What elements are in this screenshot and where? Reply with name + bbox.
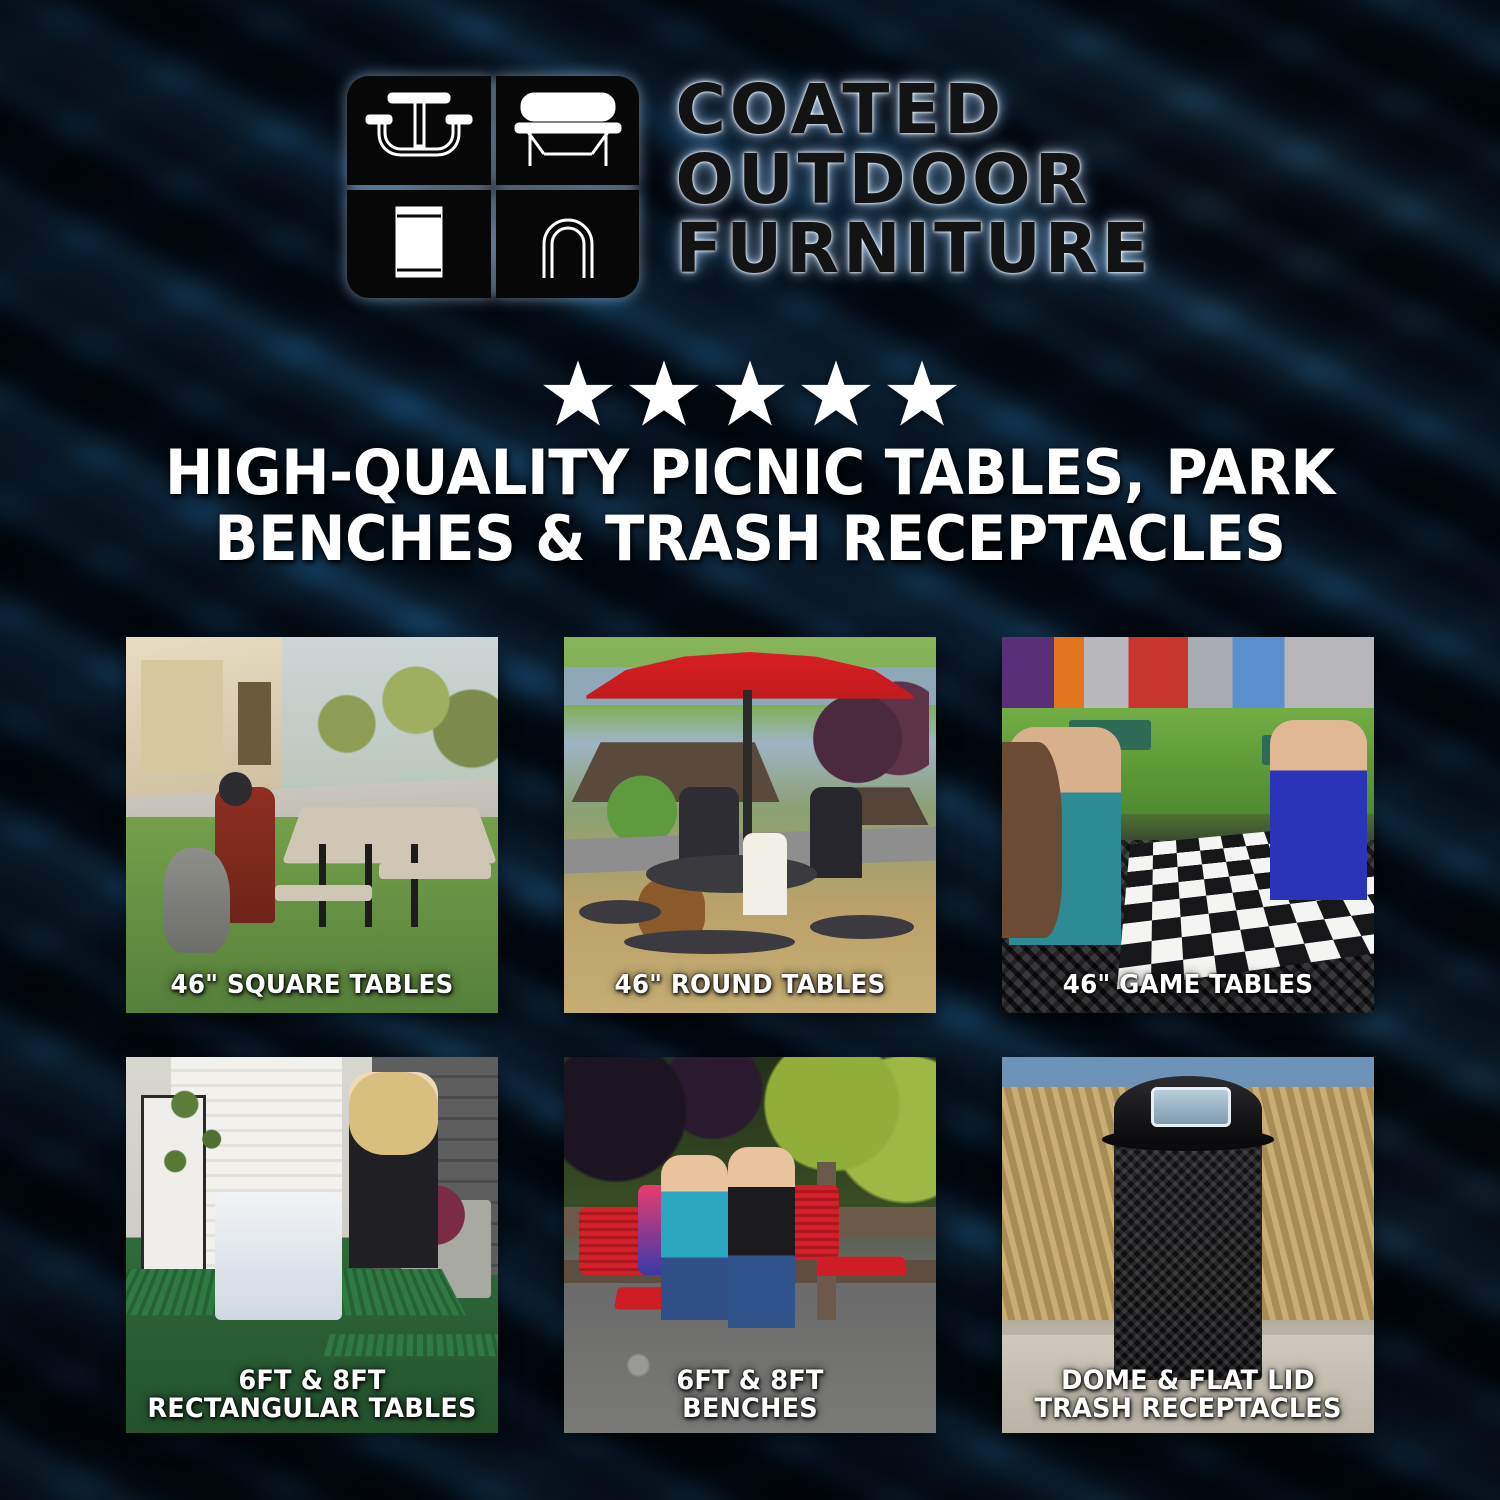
tile-caption-line-1: 46" SQUARE TABLES [143,972,481,999]
wordmark-line-1: COATED [675,78,1152,144]
tile-caption: 6FT & 8FT BENCHES [581,1367,919,1423]
tile-caption: 46" ROUND TABLES [581,972,919,999]
tile-caption-line-1: 6FT & 8FT [143,1367,481,1395]
product-tile-square-tables[interactable]: 46" SQUARE TABLES [126,637,498,1013]
headline-line-2: BENCHES & TRASH RECEPTACLES [108,506,1391,572]
tile-caption-line-1: 46" GAME TABLES [1019,972,1357,999]
star-rating [0,358,1500,428]
tile-caption-line-2: RECTANGULAR TABLES [143,1395,481,1423]
product-photo [564,637,936,1013]
star-icon [542,358,614,428]
product-category-grid: 46" SQUARE TABLES 46" ROUND TABLE [126,637,1374,1433]
star-icon [886,358,958,428]
tile-caption: 6FT & 8FT RECTANGULAR TABLES [143,1367,481,1423]
product-tile-game-tables[interactable]: 46" GAME TABLES [1002,637,1374,1013]
tile-caption: 46" GAME TABLES [1019,972,1357,999]
tile-caption-line-2: BENCHES [581,1395,919,1423]
headline-line-1: HIGH-QUALITY PICNIC TABLES, PARK [108,440,1391,506]
tile-caption: DOME & FLAT LID TRASH RECEPTACLES [1019,1367,1357,1423]
logo-mark [347,76,639,298]
promo-banner: COATED OUTDOOR FURNITURE HIGH-QUALITY PI… [0,0,1500,1500]
tile-caption-line-2: TRASH RECEPTACLES [1019,1395,1357,1423]
wordmark-line-3: FURNITURE [675,217,1152,283]
star-icon [714,358,786,428]
tile-caption-line-1: 6FT & 8FT [581,1367,919,1395]
tile-caption-line-1: DOME & FLAT LID [1019,1367,1357,1395]
wordmark-line-2: OUTDOOR [675,148,1152,214]
product-tile-benches[interactable]: 6FT & 8FT BENCHES [564,1057,936,1433]
star-icon [628,358,700,428]
product-photo [1002,637,1374,1013]
page-title: HIGH-QUALITY PICNIC TABLES, PARK BENCHES… [108,440,1391,571]
logo-wordmark: COATED OUTDOOR FURNITURE [675,76,1152,283]
product-tile-round-tables[interactable]: 46" ROUND TABLES [564,637,936,1013]
product-photo [126,637,498,1013]
star-icon [800,358,872,428]
bench-icon [496,76,640,185]
tile-caption-line-1: 46" ROUND TABLES [581,972,919,999]
product-tile-trash-receptacles[interactable]: DOME & FLAT LID TRASH RECEPTACLES [1002,1057,1374,1433]
picnic-table-icon [347,76,491,185]
trash-receptacle-icon [347,190,491,299]
brand-logo: COATED OUTDOOR FURNITURE [0,76,1500,298]
product-tile-rectangular-tables[interactable]: 6FT & 8FT RECTANGULAR TABLES [126,1057,498,1433]
tile-caption: 46" SQUARE TABLES [143,972,481,999]
dome-lid-icon [496,190,640,299]
banner-content: COATED OUTDOOR FURNITURE HIGH-QUALITY PI… [0,0,1500,1500]
